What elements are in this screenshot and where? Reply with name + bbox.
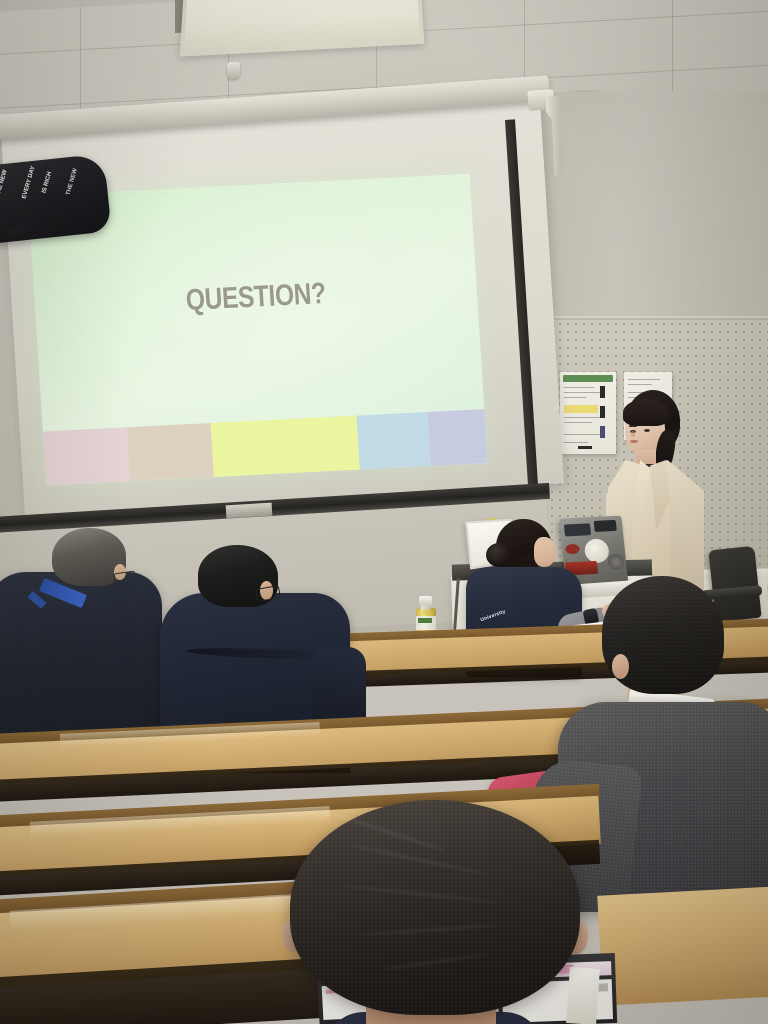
- foreground-person-hair: [290, 800, 580, 1015]
- bag-text-line-4: THE NEW: [66, 168, 79, 196]
- navy-person-face: [534, 537, 556, 567]
- swatch-beige: [127, 423, 214, 481]
- presenter-mouth: [630, 440, 638, 443]
- tweed-man-ear: [612, 654, 629, 679]
- sticker-small-dark: [594, 520, 617, 532]
- bag-text-line-3: IS RICH: [41, 171, 53, 194]
- audience-foreground-head: [290, 800, 620, 1024]
- bottle-cap: [419, 596, 432, 605]
- swatch-pink: [43, 427, 130, 485]
- ceiling-sprinkler-icon: [227, 62, 240, 80]
- presenter-nose: [631, 431, 635, 437]
- lecture-hall-photo: QUESTION?: [0, 0, 768, 1024]
- navy-person-hair-bun: [486, 543, 512, 567]
- bottle-label-accent: [418, 618, 432, 623]
- bag-text-line-1: THE NEW: [0, 169, 9, 197]
- presenter-hair-front: [623, 399, 669, 426]
- jacket-text-top: University: [480, 609, 507, 624]
- swatch-yellow-green: [211, 416, 360, 477]
- bench-row4-right-extension: [597, 884, 768, 1005]
- sticker-round-gray: [607, 553, 625, 570]
- swatch-lavender: [427, 409, 488, 466]
- bag-text-line-2: EVERY DAY: [22, 165, 37, 199]
- swatch-light-blue: [356, 412, 430, 469]
